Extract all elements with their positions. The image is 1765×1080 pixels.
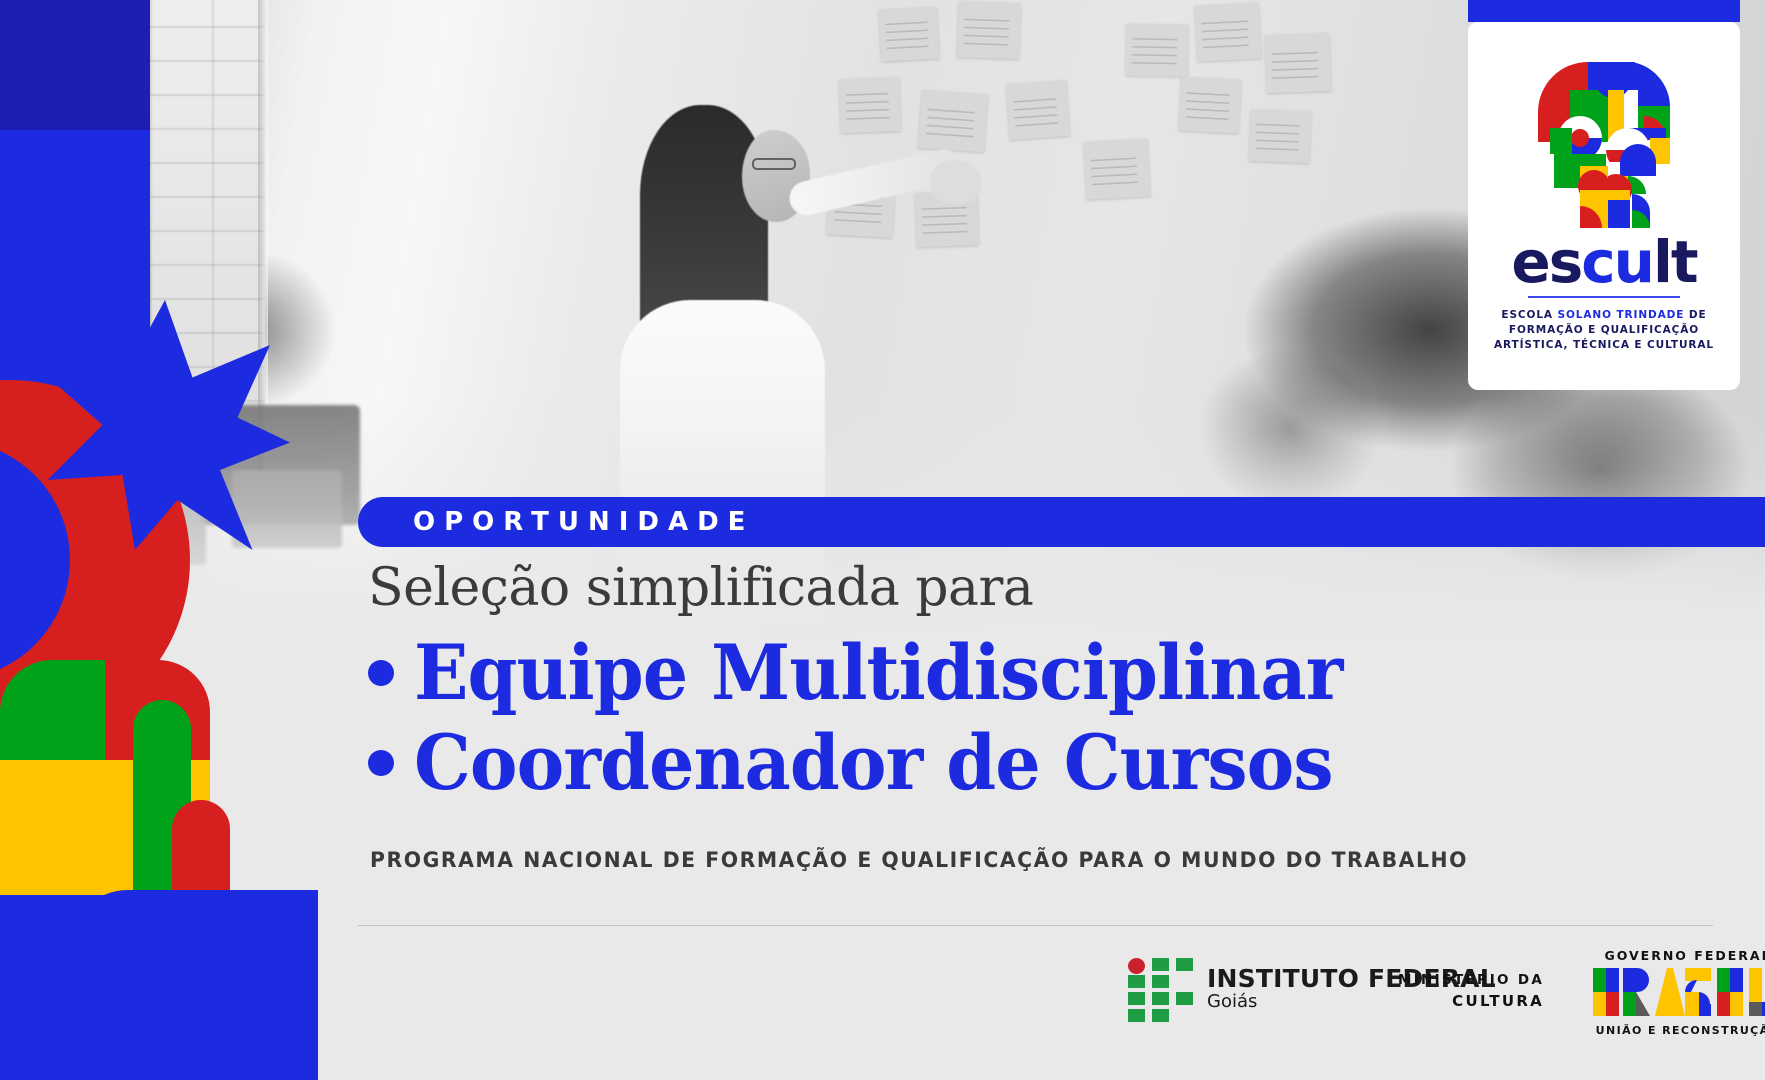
program-name: PROGRAMA NACIONAL DE FORMAÇÃO E QUALIFIC…: [370, 848, 1670, 872]
bullet-dot-icon: [368, 750, 394, 776]
sticky-note: [957, 1, 1021, 59]
role-list: Equipe Multidisciplinar Coordenador de C…: [368, 630, 1688, 810]
escult-tagline-line-2: FORMAÇÃO E QUALIFICAÇÃO: [1468, 323, 1740, 338]
opportunity-ribbon: OPORTUNIDADE: [358, 497, 1765, 547]
sticky-note: [1126, 23, 1189, 76]
escult-tagline-line-3: ARTÍSTICA, TÉCNICA E CULTURAL: [1468, 338, 1740, 353]
role-label: Equipe Multidisciplinar: [414, 630, 1342, 716]
footer-logos: INSTITUTO FEDERAL Goiás MINISTÉRIO DA CU…: [358, 940, 1758, 1050]
person-hand: [930, 160, 982, 204]
escult-wordmark-cu: cu: [1581, 228, 1653, 296]
decorative-shapes-column: [0, 0, 318, 1080]
headline-subtitle: Seleção simplificada para: [368, 558, 1468, 618]
escult-wordmark-lt: lt: [1653, 228, 1697, 296]
role-label: Coordenador de Cursos: [414, 720, 1333, 806]
escult-wordmark-es: es: [1511, 228, 1581, 296]
blue-bottom-block: [68, 890, 258, 1080]
escult-tagline: ESCOLA SOLANO TRINDADE DE FORMAÇÃO E QUA…: [1468, 308, 1740, 353]
footer-divider: [358, 925, 1713, 926]
list-item: Equipe Multidisciplinar: [368, 630, 1688, 716]
list-item: Coordenador de Cursos: [368, 720, 1688, 806]
governo-federal-logo: GOVERNO FEDERAL: [1588, 948, 1765, 1037]
logo-divider: [1528, 296, 1680, 298]
sticky-note: [1006, 80, 1070, 140]
green-quarter-block: [0, 660, 105, 760]
sticky-note: [879, 7, 940, 62]
ministerio-line-1: MINISTÉRIO DA: [1398, 970, 1544, 990]
escult-face-mark-icon: [1520, 50, 1688, 228]
sticky-note: [839, 77, 901, 133]
governo-federal-top-label: GOVERNO FEDERAL: [1588, 948, 1765, 963]
sticky-note: [1249, 109, 1311, 163]
logo-card-top-accent: [1468, 0, 1740, 22]
ministerio-line-2: CULTURA: [1398, 990, 1544, 1013]
glasses-icon: [752, 158, 796, 170]
sticky-note: [918, 90, 988, 152]
blue-bottom-block-2: [238, 890, 318, 1080]
sticky-note: [1195, 2, 1262, 61]
sticky-notes-group: [880, 0, 1400, 300]
sticky-note: [1265, 33, 1331, 93]
escult-tagline-line-1: ESCOLA SOLANO TRINDADE DE: [1468, 308, 1740, 323]
bullet-dot-icon: [368, 660, 394, 686]
instituto-federal-mark-icon: [1128, 958, 1194, 1020]
brasil-wordmark-icon: [1593, 968, 1765, 1016]
sticky-note: [1084, 138, 1151, 199]
ministerio-da-cultura-logo: MINISTÉRIO DA CULTURA: [1398, 970, 1544, 1013]
escult-wordmark: escult: [1468, 228, 1740, 290]
governo-federal-bottom-label: UNIÃO E RECONSTRUÇÃO: [1588, 1024, 1765, 1037]
sticky-note: [1179, 76, 1242, 133]
poster-canvas: escult ESCOLA SOLANO TRINDADE DE FORMAÇÃ…: [0, 0, 1765, 1080]
opportunity-ribbon-label: OPORTUNIDADE: [413, 507, 754, 537]
